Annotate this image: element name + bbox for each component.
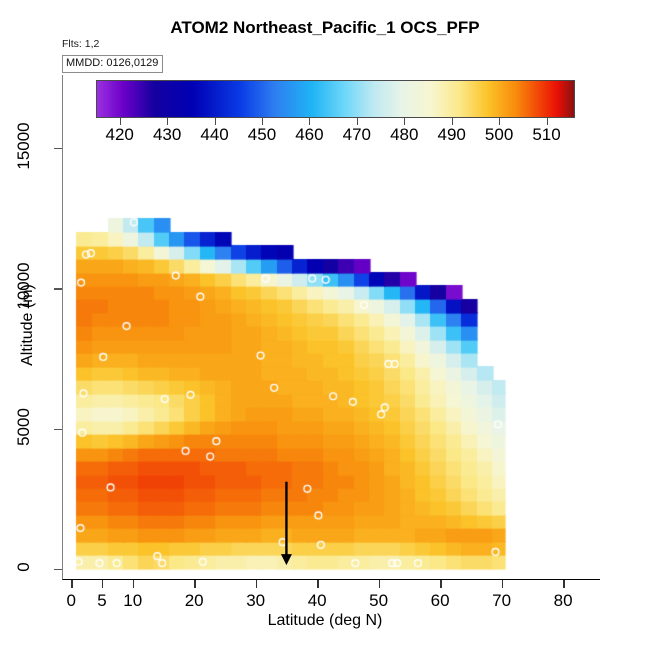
y-axis-tick-label: 0 <box>14 543 34 591</box>
y-axis-tick-label: 15000 <box>14 122 34 170</box>
x-axis-tick <box>133 580 135 588</box>
x-axis-tick <box>502 580 504 588</box>
y-axis-tick <box>54 288 62 290</box>
y-axis-tick <box>54 148 62 150</box>
y-axis-tick <box>54 429 62 431</box>
x-axis-tick-label: 40 <box>308 591 327 611</box>
x-axis-tick <box>71 580 73 588</box>
y-axis-tick <box>54 569 62 571</box>
x-axis-tick <box>102 580 104 588</box>
x-axis-tick-label: 10 <box>123 591 142 611</box>
plot-frame <box>62 75 600 580</box>
x-axis-tick-label: 5 <box>97 591 106 611</box>
x-axis-tick <box>317 580 319 588</box>
flights-annotation: Flts: 1,2 <box>62 38 99 50</box>
x-axis-tick-label: 70 <box>492 591 511 611</box>
x-axis-tick-label: 80 <box>554 591 573 611</box>
x-axis-tick <box>256 580 258 588</box>
x-axis-tick <box>194 580 196 588</box>
page-title: ATOM2 Northeast_Pacific_1 OCS_PFP <box>0 18 650 38</box>
x-axis-tick <box>563 580 565 588</box>
y-axis-tick-label: 5000 <box>14 403 34 451</box>
x-axis-tick-label: 60 <box>431 591 450 611</box>
x-axis-tick-label: 30 <box>246 591 265 611</box>
y-axis-title: Altitude (m) <box>19 245 37 405</box>
mmdd-annotation: MMDD: 0126,0129 <box>62 55 163 73</box>
x-axis-tick-label: 20 <box>185 591 204 611</box>
x-axis-title: Latitude (deg N) <box>0 612 650 630</box>
x-axis-tick-label: 50 <box>369 591 388 611</box>
x-axis-tick <box>440 580 442 588</box>
x-axis-tick-label: 0 <box>66 591 75 611</box>
figure-root: ATOM2 Northeast_Pacific_1 OCS_PFP Flts: … <box>0 0 650 650</box>
x-axis-tick <box>379 580 381 588</box>
